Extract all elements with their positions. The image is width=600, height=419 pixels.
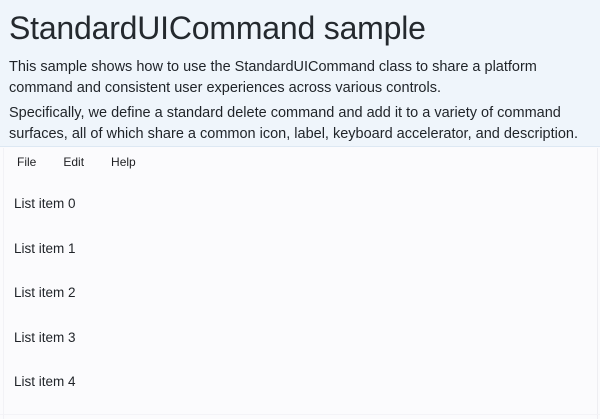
sample-header: StandardUICommand sample This sample sho… [0,0,600,147]
menu-item-edit[interactable]: Edit [55,152,92,172]
content-bottom-edge [0,414,600,415]
list-item-label: List item 0 [14,195,76,213]
list-item-label: List item 1 [14,240,76,258]
list-item[interactable]: List item 2 [0,271,600,316]
sample-description-2: Specifically, we define a standard delet… [9,103,587,145]
list-item[interactable]: List item 4 [0,360,600,405]
list-view[interactable]: List item 0 List item 1 List item 2 List… [0,182,600,412]
list-item-label: List item 2 [14,284,76,302]
content-left-edge [3,148,4,419]
content-right-edge [597,148,598,419]
list-item[interactable]: List item 1 [0,227,600,272]
page-title: StandardUICommand sample [9,9,426,47]
list-item[interactable]: List item 0 [0,182,600,227]
menu-bar: File Edit Help [0,148,600,176]
menu-item-help[interactable]: Help [103,152,144,172]
menu-item-file[interactable]: File [9,152,44,172]
app-window: StandardUICommand sample This sample sho… [0,0,600,419]
list-item[interactable]: List item 3 [0,316,600,361]
sample-description-1: This sample shows how to use the Standar… [9,57,587,99]
list-item-label: List item 4 [14,373,76,391]
list-item-label: List item 3 [14,329,76,347]
